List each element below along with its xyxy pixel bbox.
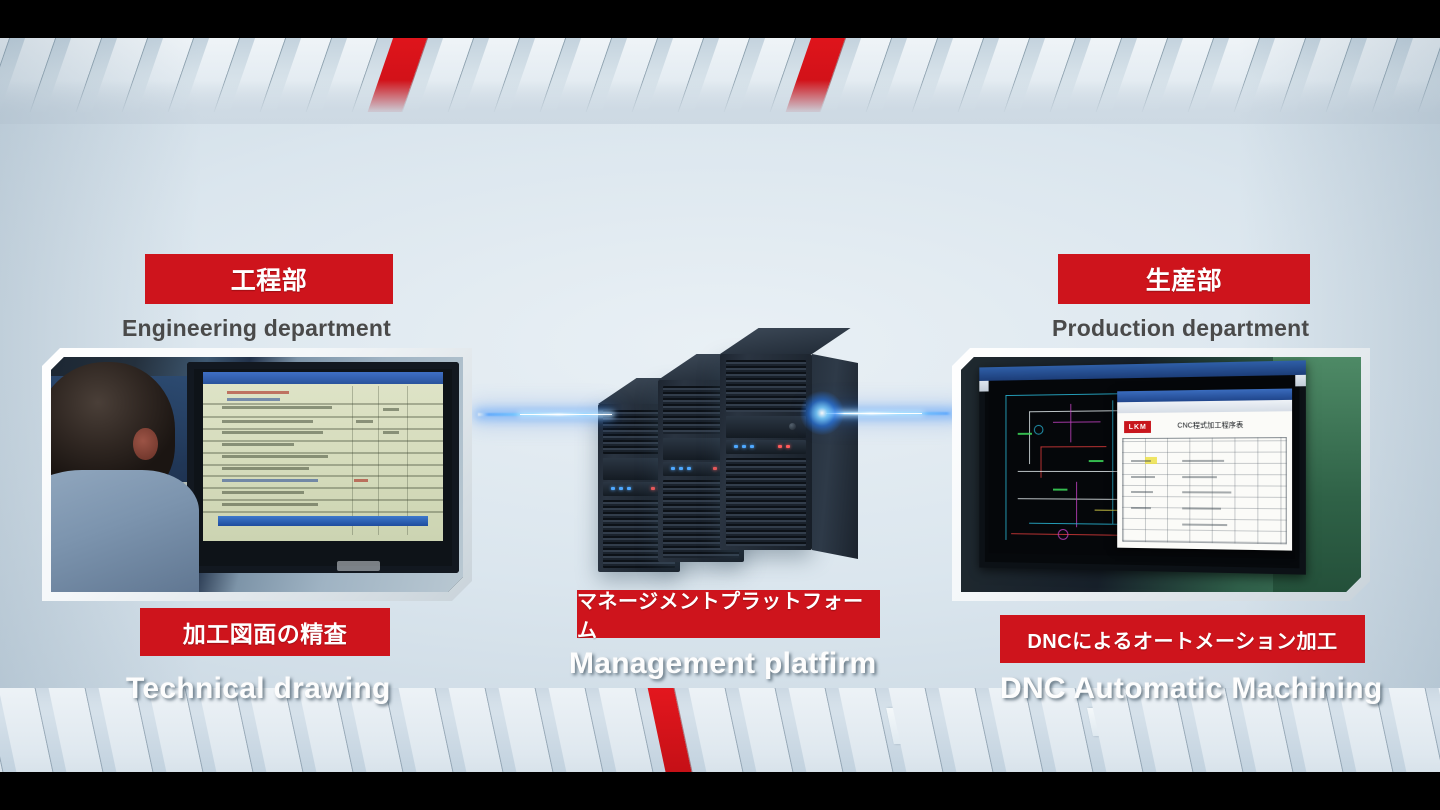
server-led-red [778, 445, 782, 448]
cnc-program-document: LKM CNC程式加工程序表 [1118, 388, 1292, 550]
server-stack[interactable] [590, 350, 860, 580]
caption-management-platform: Management platfirm [569, 647, 876, 681]
chip-technical-drawing[interactable]: 加工図面の精査 [140, 608, 390, 656]
chip-dnc-automation[interactable]: DNCによるオートメーション加工 [1000, 615, 1365, 663]
document-toolbar [1118, 400, 1292, 413]
server-led-blue [627, 487, 631, 490]
server-led-blue [734, 445, 738, 448]
server-led-blue [611, 487, 615, 490]
server-tower-back-top [720, 328, 851, 354]
letterbox-top [0, 0, 1440, 38]
server-led-panel [726, 440, 807, 454]
server-tower-back-side [812, 354, 858, 559]
server-led-red [713, 467, 717, 470]
server-vents-bottom [726, 458, 807, 546]
scene-stage: 工程部 Engineering department [0, 38, 1440, 772]
photo-dnc-machining: LKM CNC程式加工程序表 [961, 357, 1361, 592]
server-led-blue [671, 467, 675, 470]
caption-production-department: Production department [1052, 315, 1309, 342]
server-power-knob[interactable] [789, 423, 796, 430]
photo-right-monitor: LKM CNC程式加工程序表 [979, 360, 1306, 574]
photo-left-person-body [51, 470, 199, 592]
caption-technical-drawing: Technical drawing [126, 672, 391, 706]
server-led-blue [679, 467, 683, 470]
document-title: CNC程式加工程序表 [1162, 420, 1260, 431]
letterbox-bottom [0, 772, 1440, 810]
server-led-blue [687, 467, 691, 470]
server-led-blue [619, 487, 623, 490]
caption-dnc-machining: DNC Automatic Machining [1000, 672, 1382, 706]
server-panel [726, 416, 807, 438]
photo-left-monitor-brand [337, 561, 381, 572]
server-led-blue [750, 445, 754, 448]
caption-engineering-department: Engineering department [122, 315, 391, 342]
server-vents-top [726, 360, 807, 412]
photo-left-taskbar [218, 516, 429, 526]
chip-management-platform[interactable]: マネージメントプラットフォーム [577, 590, 880, 638]
photo-technical-drawing [51, 357, 463, 592]
chip-production-department[interactable]: 生産部 [1058, 254, 1310, 304]
photo-left-screen-titlebar [203, 372, 442, 384]
data-beam-spark [800, 391, 844, 435]
server-led-blue [742, 445, 746, 448]
server-led-red [651, 487, 655, 490]
photo-left-screen [203, 372, 442, 541]
server-tower-back [720, 354, 812, 550]
photo-frame-dnc-machining[interactable]: LKM CNC程式加工程序表 [952, 348, 1370, 601]
photo-frame-technical-drawing[interactable] [42, 348, 472, 601]
photo-left-monitor [187, 362, 459, 574]
chip-engineering-department[interactable]: 工程部 [145, 254, 393, 304]
data-beam-left-core [520, 414, 612, 415]
lkm-logo: LKM [1124, 421, 1151, 434]
server-led-red [786, 445, 790, 448]
ceiling-fade [0, 80, 1440, 124]
